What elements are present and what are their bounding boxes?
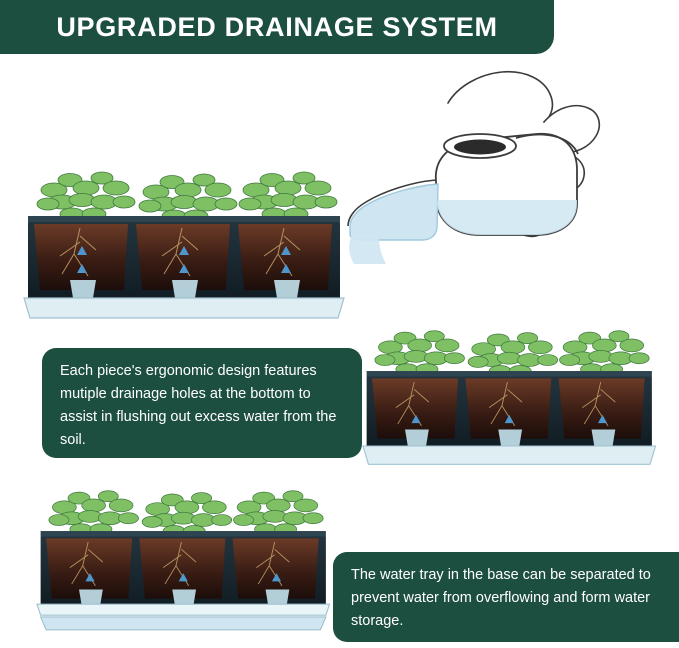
caption-water-tray: The water tray in the base can be separa… [333, 552, 679, 642]
caption-1-text: Each piece's ergonomic design features m… [60, 363, 336, 448]
caption-2-text: The water tray in the base can be separa… [351, 567, 651, 629]
planter-top-left [22, 158, 352, 333]
planter-middle-right [352, 318, 672, 478]
title-banner: UPGRADED DRAINAGE SYSTEM [0, 0, 554, 54]
caption-drainage-holes: Each piece's ergonomic design features m… [42, 348, 362, 458]
page-title: UPGRADED DRAINAGE SYSTEM [56, 12, 497, 43]
planter-bottom-left [26, 478, 346, 638]
infographic-page: UPGRADED DRAINAGE SYSTEM [0, 0, 679, 648]
watering-can-illustration [330, 58, 620, 243]
